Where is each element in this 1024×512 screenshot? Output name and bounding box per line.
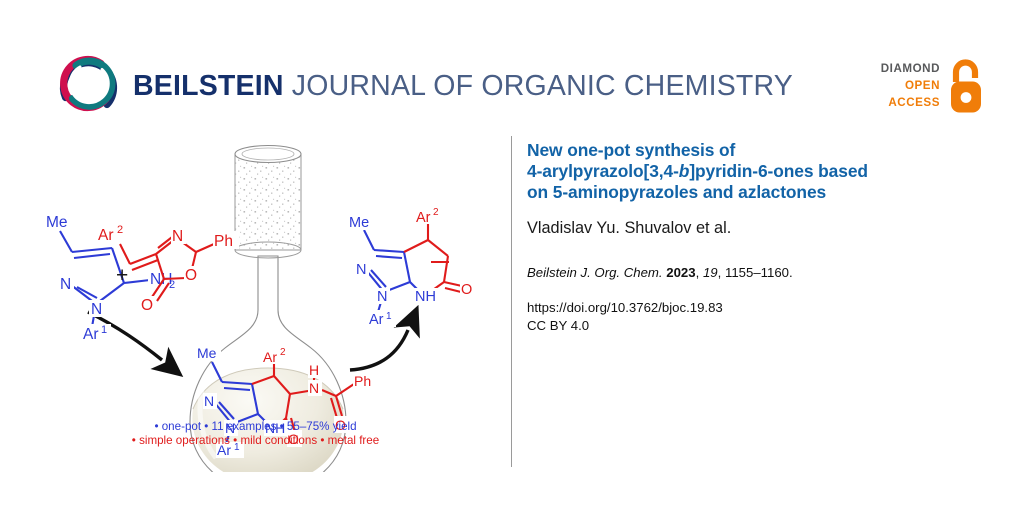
article-citation: Beilstein J. Org. Chem. 2023, 19, 1155–1… bbox=[527, 264, 957, 281]
int-label-amide-h: H bbox=[309, 362, 319, 378]
citation-comma2: , bbox=[718, 265, 722, 280]
journal-title-regular: JOURNAL OF ORGANIC CHEMISTRY bbox=[284, 70, 793, 102]
page-header: BEILSTEIN JOURNAL OF ORGANIC CHEMISTRY D… bbox=[0, 0, 1024, 132]
prod-label-ar1-superscript: 1 bbox=[386, 311, 392, 322]
ground-glass-joint bbox=[235, 146, 301, 259]
open-lock-icon bbox=[946, 58, 986, 116]
article-info-panel: New one-pot synthesis of 4-arylpyrazolo[… bbox=[527, 140, 957, 336]
prod-label-o: O bbox=[461, 282, 472, 298]
label-azlactone-carbonyl-o: O bbox=[141, 297, 153, 314]
article-title: New one-pot synthesis of 4-arylpyrazolo[… bbox=[527, 140, 957, 204]
beilstein-swirl-logo bbox=[58, 52, 120, 116]
int-label-ar2-superscript: 2 bbox=[280, 347, 286, 358]
int-label-ar2: Ar bbox=[263, 349, 277, 365]
int-label-amide-n: N bbox=[309, 380, 319, 396]
product-labels: Me N N NH Ar 1 Ar 2 O bbox=[347, 207, 475, 328]
article-title-line2b: ]pyridin-6-ones based bbox=[689, 161, 868, 181]
oa-line-access: ACCESS bbox=[864, 94, 940, 111]
article-license: CC BY 4.0 bbox=[527, 317, 957, 336]
label-n1: N bbox=[91, 301, 102, 318]
label-me: Me bbox=[46, 214, 68, 231]
poster-page: BEILSTEIN JOURNAL OF ORGANIC CHEMISTRY D… bbox=[0, 0, 1024, 512]
int-label-ph: Ph bbox=[354, 373, 371, 389]
label-azlactone-ph: Ph bbox=[214, 233, 233, 250]
prod-label-nh: NH bbox=[415, 289, 436, 305]
oa-line-open: OPEN bbox=[864, 77, 940, 94]
open-access-badge: DIAMOND OPEN ACCESS bbox=[864, 58, 984, 120]
article-doi[interactable]: https://doi.org/10.3762/bjoc.19.83 bbox=[527, 299, 957, 318]
prod-label-n2: N bbox=[356, 262, 366, 278]
journal-title: BEILSTEIN JOURNAL OF ORGANIC CHEMISTRY bbox=[133, 70, 793, 103]
prod-label-ar2-superscript: 2 bbox=[433, 207, 439, 218]
citation-year: 2023 bbox=[666, 265, 695, 280]
prod-label-ar1: Ar bbox=[369, 312, 384, 328]
open-access-text: DIAMOND OPEN ACCESS bbox=[864, 60, 940, 111]
article-title-italic-b: b bbox=[679, 161, 690, 181]
label-ar1-superscript: 1 bbox=[101, 324, 107, 336]
label-azlactone-ring-o: O bbox=[185, 267, 197, 284]
caption-line-1: • one-pot • 11 examples • 55–75% yield bbox=[0, 420, 511, 435]
prod-label-me: Me bbox=[349, 215, 369, 231]
label-azlactone-n: N bbox=[172, 228, 183, 245]
label-ar2-superscript: 2 bbox=[117, 224, 123, 236]
curved-arrow-out-of-flask bbox=[350, 330, 408, 370]
article-title-line3: on 5-aminopyrazoles and azlactones bbox=[527, 182, 826, 202]
int-label-me: Me bbox=[197, 345, 217, 361]
citation-comma1: , bbox=[696, 265, 700, 280]
label-nh2-subscript: 2 bbox=[169, 279, 175, 291]
citation-journal: Beilstein J. Org. Chem. bbox=[527, 265, 663, 280]
citation-volume: 19 bbox=[703, 265, 718, 280]
article-title-line1: New one-pot synthesis of bbox=[527, 140, 735, 160]
citation-pages: 1155–1160. bbox=[725, 265, 793, 280]
caption-line-2: • simple operations • mild conditions • … bbox=[0, 434, 511, 449]
label-ar2: Ar bbox=[98, 227, 114, 244]
article-title-line2a: 4-arylpyrazolo[3,4- bbox=[527, 161, 679, 181]
label-ar1: Ar bbox=[83, 326, 99, 343]
vertical-divider bbox=[511, 136, 512, 467]
journal-title-bold: BEILSTEIN bbox=[133, 70, 284, 102]
int-label-n2: N bbox=[204, 393, 214, 409]
oa-line-diamond: DIAMOND bbox=[864, 60, 940, 77]
prod-label-ar2: Ar bbox=[416, 210, 431, 226]
article-authors: Vladislav Yu. Shuvalov et al. bbox=[527, 218, 957, 238]
graphical-abstract: Me N N NH 2 Ar 1 + bbox=[0, 132, 511, 472]
plus-sign: + bbox=[116, 264, 128, 287]
prod-label-n1: N bbox=[377, 289, 387, 305]
label-n2: N bbox=[60, 276, 71, 293]
